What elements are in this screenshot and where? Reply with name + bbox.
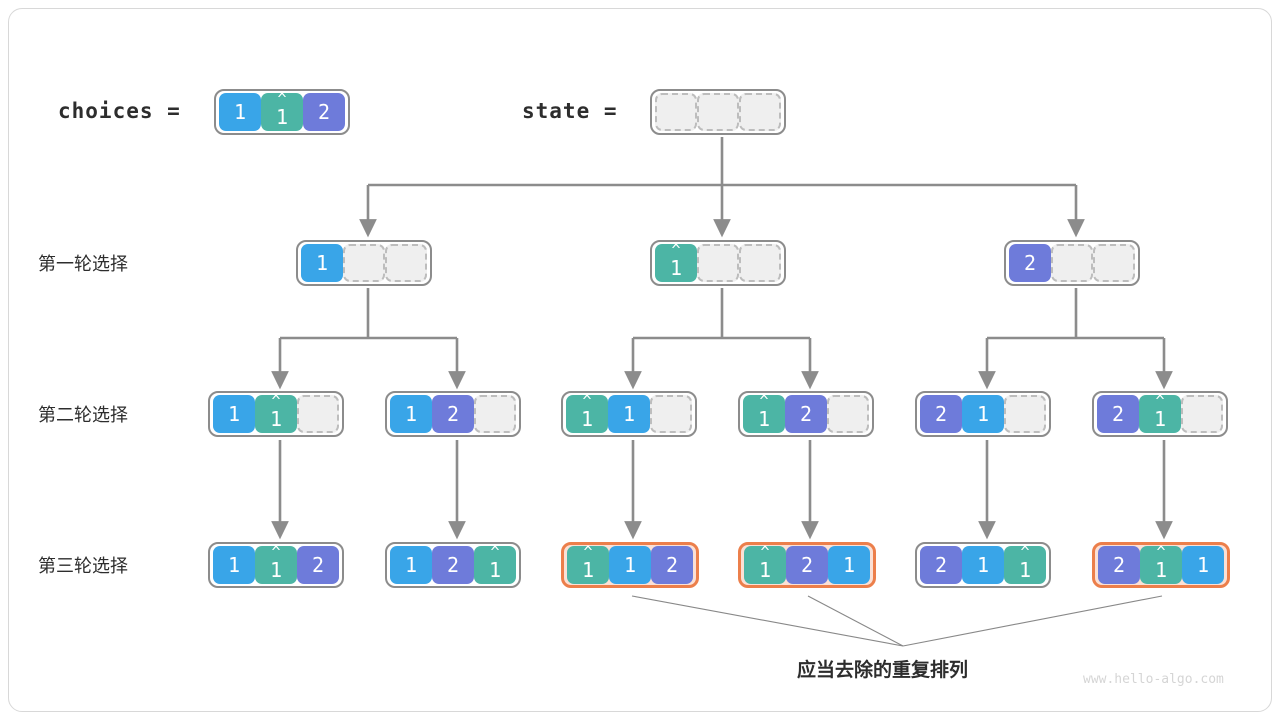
array-cell: ^1 bbox=[255, 546, 297, 584]
array-cell-value: 2 bbox=[935, 402, 947, 426]
node-level2-3: ^11 bbox=[561, 391, 697, 437]
array-cell-value: 2 bbox=[801, 553, 813, 577]
row-label-round2: 第二轮选择 bbox=[38, 401, 128, 427]
array-cell-value: 1 bbox=[1019, 558, 1031, 582]
array-cell: ^1 bbox=[655, 244, 697, 282]
array-cell-value: 2 bbox=[318, 100, 330, 124]
array-cell-value: 1 bbox=[623, 402, 635, 426]
array-cell-value: 1 bbox=[316, 251, 328, 275]
state-array bbox=[650, 89, 786, 135]
array-cell bbox=[697, 244, 739, 282]
array-cell bbox=[827, 395, 869, 433]
array-cell: ^1 bbox=[744, 546, 786, 584]
array-cell: 1 bbox=[962, 546, 1004, 584]
array-cell bbox=[739, 93, 781, 131]
node-level2-2: 12 bbox=[385, 391, 521, 437]
array-cell-value: 1 bbox=[1154, 407, 1166, 431]
array-cell-value: 1 bbox=[1197, 553, 1209, 577]
array-cell bbox=[1004, 395, 1046, 433]
array-cell: 2 bbox=[1009, 244, 1051, 282]
array-cell-value: 2 bbox=[666, 553, 678, 577]
node-level3-2: 12^1 bbox=[385, 542, 521, 588]
array-cell-value: 1 bbox=[759, 558, 771, 582]
watermark: www.hello-algo.com bbox=[1083, 672, 1224, 687]
array-cell bbox=[1181, 395, 1223, 433]
array-cell: 1 bbox=[609, 546, 651, 584]
array-cell bbox=[697, 93, 739, 131]
array-cell-value: 2 bbox=[935, 553, 947, 577]
array-cell: ^1 bbox=[1140, 546, 1182, 584]
array-cell-value: 1 bbox=[270, 407, 282, 431]
array-cell bbox=[343, 244, 385, 282]
node-level2-4: ^12 bbox=[738, 391, 874, 437]
node-level2-1: 1^1 bbox=[208, 391, 344, 437]
array-cell-value: 1 bbox=[758, 407, 770, 431]
array-cell: ^1 bbox=[743, 395, 785, 433]
array-cell-value: 2 bbox=[447, 402, 459, 426]
array-cell: ^1 bbox=[567, 546, 609, 584]
array-cell: 1 bbox=[219, 93, 261, 131]
array-cell: 2 bbox=[785, 395, 827, 433]
array-cell bbox=[739, 244, 781, 282]
array-cell: 1 bbox=[1182, 546, 1224, 584]
choices-label: choices = bbox=[58, 99, 181, 123]
array-cell-value: 1 bbox=[582, 558, 594, 582]
array-cell-value: 2 bbox=[1113, 553, 1125, 577]
node-level3-3: ^112 bbox=[561, 542, 699, 588]
array-cell-value: 2 bbox=[447, 553, 459, 577]
array-cell: 2 bbox=[786, 546, 828, 584]
row-label-round1: 第一轮选择 bbox=[38, 250, 128, 276]
array-cell-value: 1 bbox=[1155, 558, 1167, 582]
array-cell bbox=[1051, 244, 1093, 282]
node-level1-1: 1 bbox=[296, 240, 432, 286]
callout-text: 应当去除的重复排列 bbox=[797, 655, 968, 682]
array-cell-value: 2 bbox=[1112, 402, 1124, 426]
state-label: state = bbox=[522, 99, 618, 123]
array-cell-value: 1 bbox=[234, 100, 246, 124]
array-cell: ^1 bbox=[261, 93, 303, 131]
array-cell: 1 bbox=[213, 546, 255, 584]
array-cell bbox=[297, 395, 339, 433]
array-cell bbox=[474, 395, 516, 433]
node-level2-6: 2^1 bbox=[1092, 391, 1228, 437]
array-cell: ^1 bbox=[1004, 546, 1046, 584]
array-cell: 2 bbox=[303, 93, 345, 131]
array-cell: 2 bbox=[432, 395, 474, 433]
array-cell: 2 bbox=[920, 395, 962, 433]
array-cell bbox=[1093, 244, 1135, 282]
choices-array: 1^12 bbox=[214, 89, 350, 135]
array-cell: 1 bbox=[608, 395, 650, 433]
array-cell: 2 bbox=[1098, 546, 1140, 584]
array-cell: 2 bbox=[920, 546, 962, 584]
array-cell bbox=[650, 395, 692, 433]
array-cell-value: 2 bbox=[1024, 251, 1036, 275]
array-cell: 1 bbox=[828, 546, 870, 584]
array-cell-value: 2 bbox=[800, 402, 812, 426]
node-level1-3: 2 bbox=[1004, 240, 1140, 286]
array-cell-value: 1 bbox=[228, 553, 240, 577]
array-cell: 2 bbox=[297, 546, 339, 584]
array-cell-value: 1 bbox=[670, 256, 682, 280]
diagram-canvas: choices = state = 第一轮选择 第二轮选择 第三轮选择 1^12… bbox=[0, 0, 1280, 720]
array-cell: 1 bbox=[962, 395, 1004, 433]
node-level2-5: 21 bbox=[915, 391, 1051, 437]
array-cell-value: 1 bbox=[977, 402, 989, 426]
array-cell-value: 1 bbox=[276, 105, 288, 129]
array-cell-value: 1 bbox=[489, 558, 501, 582]
node-level1-2: ^1 bbox=[650, 240, 786, 286]
array-cell: ^1 bbox=[566, 395, 608, 433]
array-cell-value: 1 bbox=[843, 553, 855, 577]
array-cell: 2 bbox=[1097, 395, 1139, 433]
node-level3-1: 1^12 bbox=[208, 542, 344, 588]
array-cell-value: 1 bbox=[405, 402, 417, 426]
array-cell: ^1 bbox=[474, 546, 516, 584]
array-cell-value: 1 bbox=[270, 558, 282, 582]
diagram-frame bbox=[8, 8, 1272, 712]
array-cell: 1 bbox=[390, 546, 432, 584]
array-cell bbox=[655, 93, 697, 131]
array-cell-value: 1 bbox=[977, 553, 989, 577]
array-cell-value: 1 bbox=[405, 553, 417, 577]
array-cell bbox=[385, 244, 427, 282]
array-cell: 2 bbox=[432, 546, 474, 584]
array-cell: 2 bbox=[651, 546, 693, 584]
node-level3-5: 21^1 bbox=[915, 542, 1051, 588]
array-cell: 1 bbox=[301, 244, 343, 282]
array-cell-value: 1 bbox=[581, 407, 593, 431]
array-cell: ^1 bbox=[255, 395, 297, 433]
node-level3-4: ^121 bbox=[738, 542, 876, 588]
array-cell-value: 1 bbox=[228, 402, 240, 426]
array-cell-value: 2 bbox=[312, 553, 324, 577]
array-cell: 1 bbox=[213, 395, 255, 433]
node-level3-6: 2^11 bbox=[1092, 542, 1230, 588]
array-cell-value: 1 bbox=[624, 553, 636, 577]
row-label-round3: 第三轮选择 bbox=[38, 552, 128, 578]
array-cell: 1 bbox=[390, 395, 432, 433]
array-cell: ^1 bbox=[1139, 395, 1181, 433]
